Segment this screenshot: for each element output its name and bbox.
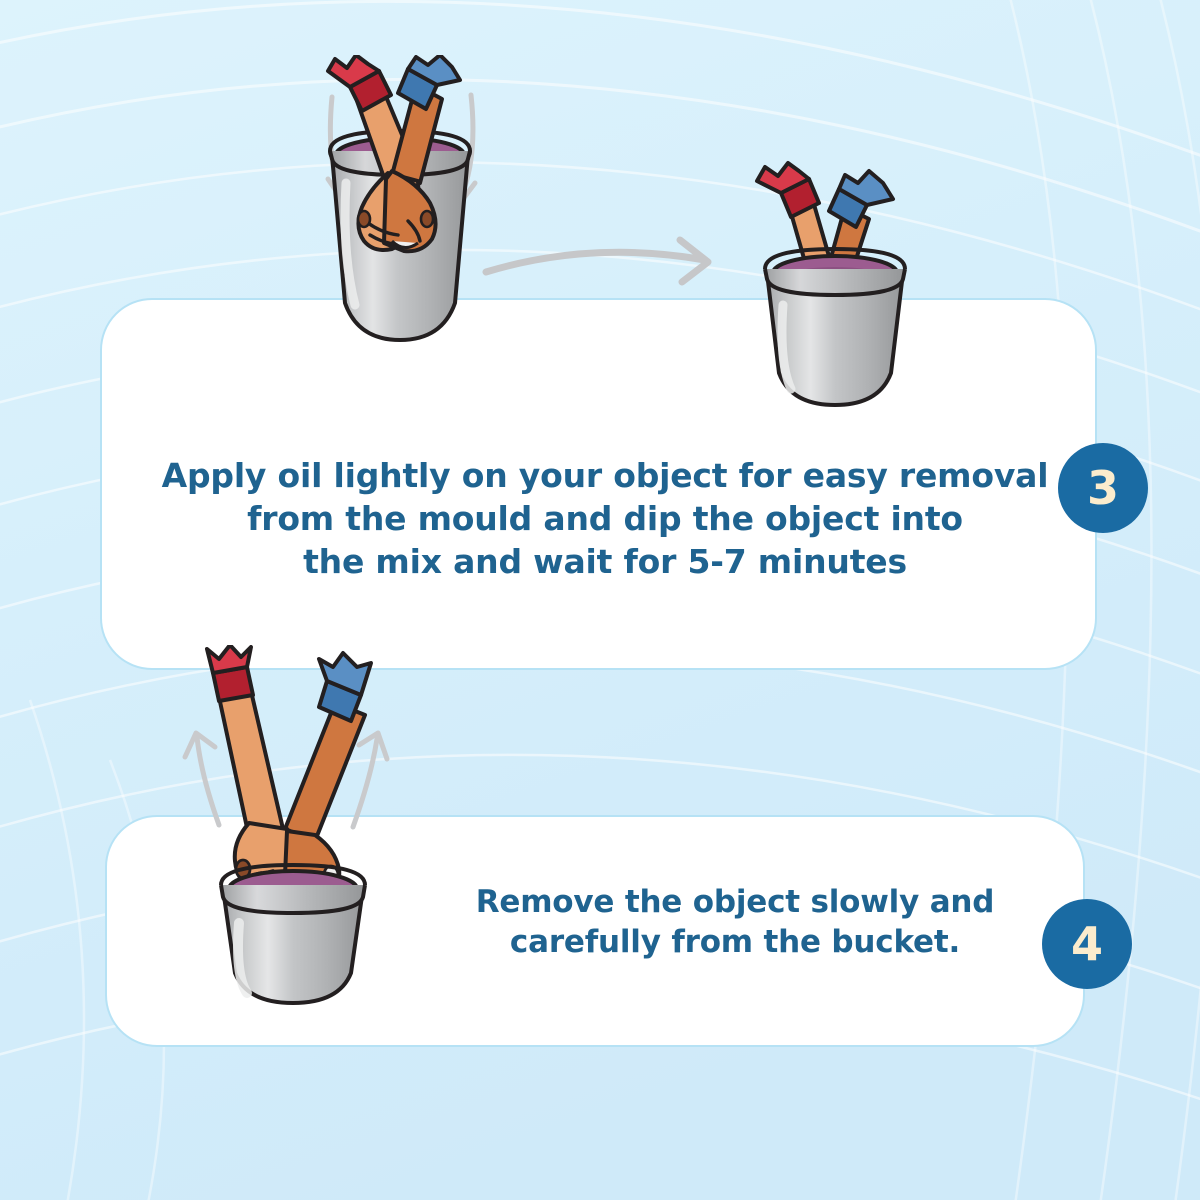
blue-sleeve-cuff: [398, 69, 437, 109]
bucket-rim: [330, 131, 470, 171]
step-3-number: 3: [1087, 465, 1119, 511]
step-3-instruction-text: Apply oil lightly on your object for eas…: [150, 455, 1060, 584]
blue-sleeve: [408, 55, 460, 85]
red-sleeve-cuff: [213, 667, 253, 701]
bucket-rim: [765, 269, 905, 295]
step-4-number-badge: 4: [1042, 899, 1132, 989]
step-3-line-3: the mix and wait for 5-7 minutes: [150, 541, 1060, 584]
flow-arrow-right-icon: [480, 232, 725, 298]
blue-sleeve: [839, 171, 893, 205]
fingers: [368, 221, 420, 245]
right-forearm: [392, 85, 442, 183]
red-sleeve: [757, 163, 809, 193]
left-hand: [358, 173, 420, 250]
infographic-canvas: Apply oil lightly on your object for eas…: [0, 0, 1200, 1200]
right-hand: [384, 171, 436, 251]
arrow-down-left-icon: [328, 97, 357, 201]
arrow-up-left-icon: [185, 733, 219, 825]
red-sleeve: [328, 55, 379, 87]
right-forearm: [825, 207, 869, 281]
resin-mix-surface: [773, 256, 897, 290]
step-4-number: 4: [1071, 921, 1103, 967]
object-in-hands: [392, 241, 418, 248]
red-sleeve-cuff: [350, 71, 391, 111]
step-4-instruction-text: Remove the object slowly and carefully f…: [420, 882, 1050, 963]
left-forearm: [791, 201, 835, 283]
step-4-line-1: Remove the object slowly and: [420, 882, 1050, 922]
arrow-down-right-icon: [446, 95, 475, 203]
red-sleeve-cuff: [781, 179, 819, 217]
step-3-line-2: from the mould and dip the object into: [150, 498, 1060, 541]
step-3-number-badge: 3: [1058, 443, 1148, 533]
blue-sleeve-cuff: [829, 189, 867, 227]
arrow-up-right-icon: [353, 733, 387, 827]
blue-sleeve-cuff: [319, 681, 361, 721]
left-forearm: [357, 87, 418, 189]
step-3-line-1: Apply oil lightly on your object for eas…: [150, 455, 1060, 498]
step-4-line-2: carefully from the bucket.: [420, 922, 1050, 962]
resin-mix-surface: [336, 138, 464, 172]
